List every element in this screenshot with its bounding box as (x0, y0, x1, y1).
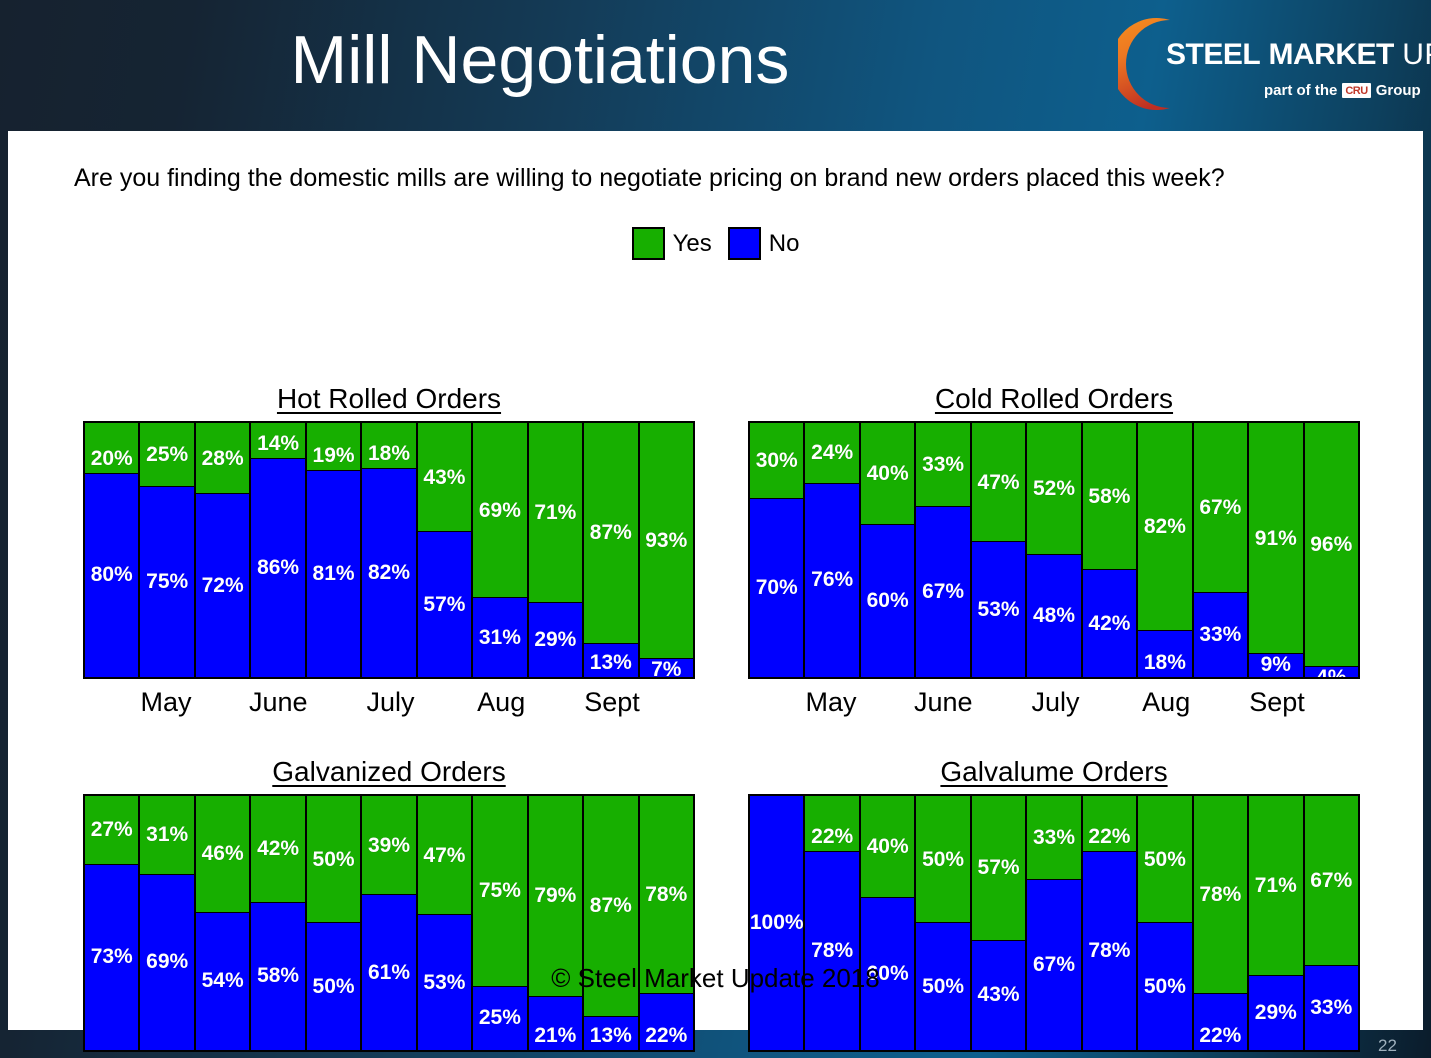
bar-segment-yes[interactable]: 82% (1138, 423, 1191, 631)
x-axis-tick-blank (308, 679, 363, 725)
stacked-bar[interactable]: 47%53% (971, 423, 1026, 677)
bar-segment-yes[interactable]: 52% (1027, 423, 1080, 555)
x-axis-tick-aug: Aug (474, 1052, 529, 1058)
x-axis-tick-blank (194, 679, 249, 725)
bar-segment-no[interactable]: 76% (805, 484, 858, 677)
bar-segment-no[interactable]: 78% (805, 852, 858, 1050)
bar-label-yes: 87% (590, 522, 632, 544)
bar-segment-no[interactable]: 53% (972, 542, 1025, 677)
bar-segment-yes[interactable]: 96% (1305, 423, 1358, 667)
x-axis-tick-blank (640, 1052, 695, 1058)
x-axis-tick-blank (640, 679, 695, 725)
bar-label-yes: 22% (811, 826, 853, 848)
stacked-bar[interactable]: 57%43% (971, 796, 1026, 1050)
stacked-bar[interactable]: 30%70% (750, 423, 804, 677)
stacked-bar[interactable]: 19%81% (306, 423, 361, 677)
plot-area-cold-rolled: 30%70%24%76%40%60%33%67%47%53%52%48%58%4… (748, 421, 1360, 679)
page-number: 22 (1378, 1036, 1397, 1056)
x-axis-hot-rolled: MayJuneJulyAugSept (83, 679, 695, 725)
stacked-bar[interactable]: 43%57% (417, 423, 472, 677)
bar-label-yes: 67% (1310, 870, 1352, 892)
x-axis-tick-may: May (803, 679, 858, 725)
stacked-bar[interactable]: 87%13% (583, 796, 638, 1050)
bar-segment-no[interactable]: 25% (473, 987, 526, 1051)
stacked-bar[interactable]: 22%78% (804, 796, 859, 1050)
bar-segment-yes[interactable]: 87% (584, 423, 637, 644)
x-axis-tick-blank (418, 1052, 473, 1058)
stacked-bar[interactable]: 33%67% (915, 423, 970, 677)
x-axis-galvalume: MayJuneJulyAugSept (748, 1052, 1360, 1058)
x-axis-tick-aug: Aug (474, 679, 529, 725)
stacked-bar[interactable]: 25%75% (139, 423, 194, 677)
bar-segment-no[interactable]: 80% (85, 474, 138, 677)
x-axis-galvanized: MayJuneJulyAugSept (83, 1052, 695, 1058)
stacked-bar[interactable]: 71%29% (528, 423, 583, 677)
logo-subtitle: part of the CRU Group (1264, 82, 1421, 99)
stacked-bar[interactable]: 67%33% (1193, 423, 1248, 677)
stacked-bar[interactable]: 58%42% (1082, 423, 1137, 677)
bar-label-yes: 43% (423, 467, 465, 489)
bar-segment-yes[interactable]: 50% (307, 796, 360, 923)
bar-label-yes: 42% (257, 838, 299, 860)
x-axis-tick-blank (308, 1052, 363, 1058)
bar-label-no: 53% (978, 599, 1020, 621)
bar-segment-yes[interactable]: 71% (529, 423, 582, 603)
x-axis-tick-may: May (138, 679, 193, 725)
bar-segment-yes[interactable]: 46% (196, 796, 249, 913)
x-axis-tick-blank (529, 679, 584, 725)
bar-label-no: 33% (1199, 624, 1241, 646)
x-axis-tick-blank (973, 1052, 1028, 1058)
bar-segment-no[interactable]: 4% (1305, 667, 1358, 677)
logo-sub-suffix: Group (1376, 82, 1421, 99)
bar-label-yes: 50% (1144, 849, 1186, 871)
stacked-bar[interactable]: 40%60% (860, 423, 915, 677)
plot-area-galvanized: 27%73%31%69%46%54%42%58%50%50%39%61%47%5… (83, 794, 695, 1052)
stacked-bar[interactable]: 28%72% (195, 423, 250, 677)
bar-segment-no[interactable]: 60% (861, 525, 914, 677)
bar-label-yes: 27% (91, 819, 133, 841)
stacked-bar[interactable]: 75%25% (472, 796, 527, 1050)
stacked-bar[interactable]: 50%50% (1137, 796, 1192, 1050)
legend-swatch-no (728, 227, 761, 260)
x-axis-tick-sept: Sept (1249, 1052, 1305, 1058)
stacked-bar[interactable]: 22%78% (1082, 796, 1137, 1050)
bar-label-no: 72% (202, 575, 244, 597)
stacked-bar[interactable]: 50%50% (915, 796, 970, 1050)
bar-label-yes: 91% (1255, 528, 1297, 550)
bar-label-yes: 24% (811, 442, 853, 464)
bar-segment-yes[interactable]: 40% (861, 796, 914, 898)
chart-galvanized: Galvanized Orders27%73%31%69%46%54%42%58… (83, 756, 695, 1058)
bar-label-no: 75% (146, 571, 188, 593)
bar-segment-no[interactable]: 21% (529, 997, 582, 1050)
stacked-bar[interactable]: 24%76% (804, 423, 859, 677)
bar-segment-yes[interactable]: 50% (916, 796, 969, 923)
steel-market-update-logo: STEEL MARKET UPDATE part of the CRU Grou… (1078, 6, 1428, 122)
bar-segment-no[interactable]: 29% (529, 603, 582, 677)
x-axis-tick-july: July (1028, 1052, 1083, 1058)
bar-segment-no[interactable]: 33% (1194, 593, 1247, 677)
bar-segment-no[interactable]: 72% (196, 494, 249, 677)
bar-segment-yes[interactable]: 75% (473, 796, 526, 987)
bar-segment-no[interactable]: 31% (473, 598, 526, 677)
bar-segment-yes[interactable]: 67% (1194, 423, 1247, 593)
bar-segment-no[interactable]: 22% (640, 994, 693, 1050)
bar-segment-no[interactable]: 18% (1138, 631, 1191, 677)
bar-label-no: 33% (1310, 997, 1352, 1019)
bar-label-yes: 50% (313, 849, 355, 871)
bar-segment-no[interactable]: 9% (1249, 654, 1302, 677)
bar-label-no: 21% (534, 1025, 576, 1047)
bar-segment-yes[interactable]: 43% (418, 423, 471, 532)
bar-label-no: 86% (257, 557, 299, 579)
bar-label-yes: 40% (867, 463, 909, 485)
bar-label-yes: 82% (1144, 516, 1186, 538)
x-axis-tick-blank (1083, 1052, 1138, 1058)
x-axis-tick-may: May (138, 1052, 193, 1058)
bar-label-yes: 20% (91, 448, 133, 470)
legend-item-yes[interactable]: Yes (632, 227, 712, 260)
bar-label-yes: 40% (867, 836, 909, 858)
stacked-bar[interactable]: 87%13% (583, 423, 638, 677)
stacked-bar[interactable]: 47%53% (417, 796, 472, 1050)
bar-label-yes: 18% (368, 443, 410, 465)
bar-label-no: 4% (1316, 667, 1346, 677)
x-axis-tick-aug: Aug (1139, 1052, 1194, 1058)
bar-segment-yes[interactable]: 22% (805, 796, 858, 852)
bar-segment-yes[interactable]: 47% (972, 423, 1025, 542)
x-axis-tick-july: July (1028, 679, 1083, 725)
stacked-bar[interactable]: 27%73% (85, 796, 139, 1050)
bar-segment-yes[interactable]: 25% (140, 423, 193, 487)
bar-segment-yes[interactable]: 47% (418, 796, 471, 915)
bar-segment-yes[interactable]: 69% (473, 423, 526, 598)
slide-body: Are you finding the domestic mills are w… (8, 131, 1423, 1030)
x-axis-tick-blank (83, 1052, 138, 1058)
cru-badge: CRU (1342, 83, 1370, 98)
chart-legend: YesNo (8, 227, 1423, 260)
bar-segment-no[interactable]: 86% (251, 459, 304, 677)
bar-segment-yes[interactable]: 42% (251, 796, 304, 903)
x-axis-tick-july: July (363, 679, 418, 725)
bar-label-yes: 50% (922, 849, 964, 871)
bar-segment-no[interactable]: 82% (362, 469, 415, 677)
bar-label-yes: 39% (368, 835, 410, 857)
bar-segment-no[interactable]: 78% (1083, 852, 1136, 1050)
x-axis-tick-aug: Aug (1139, 679, 1194, 725)
page-title: Mill Negotiations (0, 12, 1080, 108)
bar-segment-yes[interactable]: 22% (1083, 796, 1136, 852)
bar-label-no: 13% (590, 1025, 632, 1047)
x-axis-tick-july: July (363, 1052, 418, 1058)
x-axis-tick-sept: Sept (584, 679, 640, 725)
bar-segment-yes[interactable]: 27% (85, 796, 138, 865)
bar-segment-no[interactable]: 22% (1194, 994, 1247, 1050)
survey-question: Are you finding the domestic mills are w… (74, 164, 1374, 193)
bar-label-no: 7% (651, 659, 681, 677)
logo-sub-prefix: part of the (1264, 82, 1337, 99)
logo-word-steel: STEEL (1166, 38, 1260, 71)
logo-wordmark: STEEL MARKET UPDATE (1166, 38, 1431, 72)
stacked-bar[interactable]: 31%69% (139, 796, 194, 1050)
bar-label-no: 70% (756, 577, 798, 599)
bar-segment-yes[interactable]: 30% (750, 423, 803, 499)
x-axis-tick-blank (83, 679, 138, 725)
bar-label-no: 48% (1033, 605, 1075, 627)
bar-label-yes: 46% (202, 843, 244, 865)
bar-segment-no[interactable]: 13% (584, 1017, 637, 1050)
bar-label-no: 18% (1144, 652, 1186, 674)
stacked-bar[interactable]: 33%67% (1026, 796, 1081, 1050)
x-axis-tick-blank (748, 679, 803, 725)
stacked-bar[interactable]: 42%58% (250, 796, 305, 1050)
stacked-bar[interactable]: 14%86% (250, 423, 305, 677)
bar-segment-yes[interactable]: 28% (196, 423, 249, 494)
bar-segment-no[interactable]: 42% (1083, 570, 1136, 677)
bar-label-yes: 78% (1199, 884, 1241, 906)
bar-segment-no[interactable]: 81% (307, 471, 360, 677)
x-axis-tick-june: June (249, 679, 308, 725)
stacked-bar[interactable]: 78%22% (1193, 796, 1248, 1050)
bar-segment-yes[interactable]: 24% (805, 423, 858, 484)
legend-label-no: No (769, 230, 800, 258)
x-axis-tick-june: June (914, 1052, 973, 1058)
stacked-bar[interactable]: 71%29% (1248, 796, 1303, 1050)
stacked-bar[interactable]: 96%4% (1304, 423, 1358, 677)
bar-label-no: 22% (1199, 1025, 1241, 1047)
x-axis-tick-blank (194, 1052, 249, 1058)
x-axis-tick-blank (748, 1052, 803, 1058)
bar-segment-yes[interactable]: 14% (251, 423, 304, 459)
stacked-bar[interactable]: 39%61% (361, 796, 416, 1050)
bar-label-yes: 14% (257, 433, 299, 455)
bar-label-no: 76% (811, 569, 853, 591)
bar-label-yes: 47% (978, 472, 1020, 494)
bar-segment-yes[interactable]: 67% (1305, 796, 1358, 966)
bar-label-yes: 52% (1033, 478, 1075, 500)
bar-segment-yes[interactable]: 18% (362, 423, 415, 469)
bar-segment-no[interactable]: 57% (418, 532, 471, 677)
x-axis-cold-rolled: MayJuneJulyAugSept (748, 679, 1360, 725)
stacked-bar[interactable]: 82%18% (1137, 423, 1192, 677)
logo-word-update: UPDATE (1402, 38, 1431, 71)
bar-label-no: 78% (1088, 940, 1130, 962)
bar-segment-no[interactable]: 100% (750, 796, 803, 1050)
bar-label-yes: 47% (423, 845, 465, 867)
x-axis-tick-blank (859, 679, 914, 725)
x-axis-tick-blank (1305, 1052, 1360, 1058)
bar-label-no: 29% (1255, 1002, 1297, 1024)
bar-label-yes: 71% (1255, 875, 1297, 897)
bar-segment-no[interactable]: 13% (584, 644, 637, 677)
bar-segment-yes[interactable]: 57% (972, 796, 1025, 941)
bar-label-yes: 96% (1310, 534, 1352, 556)
stacked-bar[interactable]: 79%21% (528, 796, 583, 1050)
stacked-bar[interactable]: 91%9% (1248, 423, 1303, 677)
chart-title-galvalume: Galvalume Orders (748, 756, 1360, 788)
bar-label-yes: 30% (756, 450, 798, 472)
stacked-bar[interactable]: 40%60% (860, 796, 915, 1050)
bar-segment-yes[interactable]: 39% (362, 796, 415, 895)
x-axis-tick-blank (529, 1052, 584, 1058)
stacked-bar[interactable]: 18%82% (361, 423, 416, 677)
x-axis-tick-blank (418, 679, 473, 725)
bar-label-yes: 19% (313, 445, 355, 467)
bar-label-yes: 57% (978, 857, 1020, 879)
bar-label-yes: 33% (922, 454, 964, 476)
bar-segment-no[interactable]: 73% (85, 865, 138, 1050)
bar-label-yes: 22% (1088, 826, 1130, 848)
plot-area-hot-rolled: 20%80%25%75%28%72%14%86%19%81%18%82%43%5… (83, 421, 695, 679)
bar-label-no: 13% (590, 652, 632, 674)
bar-label-yes: 79% (534, 885, 576, 907)
bar-label-no: 9% (1261, 654, 1291, 676)
stacked-bar[interactable]: 20%80% (85, 423, 139, 677)
copyright-notice: © Steel Market Update 2018 (8, 963, 1423, 994)
logo-word-market: MARKET (1269, 38, 1394, 71)
bar-segment-no[interactable]: 43% (972, 941, 1025, 1050)
stacked-bar[interactable]: 52%48% (1026, 423, 1081, 677)
x-axis-tick-blank (859, 1052, 914, 1058)
slide-header: Mill Negotiations STEEL MARKET UPDATE pa… (0, 0, 1431, 131)
bar-label-yes: 93% (645, 530, 687, 552)
bar-label-no: 31% (479, 627, 521, 649)
bar-segment-yes[interactable]: 20% (85, 423, 138, 474)
x-axis-tick-blank (1305, 679, 1360, 725)
bar-segment-yes[interactable]: 33% (1027, 796, 1080, 880)
bar-label-no: 100% (750, 912, 804, 934)
chart-title-cold-rolled: Cold Rolled Orders (748, 383, 1360, 415)
bar-segment-yes[interactable]: 40% (861, 423, 914, 525)
x-axis-tick-sept: Sept (584, 1052, 640, 1058)
x-axis-tick-may: May (803, 1052, 858, 1058)
bar-segment-no[interactable]: 48% (1027, 555, 1080, 677)
bar-segment-no[interactable]: 70% (750, 499, 803, 677)
bar-label-no: 57% (423, 594, 465, 616)
bar-label-no: 78% (811, 940, 853, 962)
stacked-bar[interactable]: 46%54% (195, 796, 250, 1050)
bar-label-yes: 78% (645, 884, 687, 906)
x-axis-tick-blank (1194, 679, 1249, 725)
bar-label-yes: 67% (1199, 497, 1241, 519)
bar-segment-yes[interactable]: 19% (307, 423, 360, 471)
bar-label-yes: 33% (1033, 827, 1075, 849)
chart-galvalume: Galvalume Orders100%22%78%40%60%50%50%57… (748, 756, 1360, 1058)
stacked-bar[interactable]: 69%31% (472, 423, 527, 677)
bar-label-yes: 71% (534, 502, 576, 524)
bar-segment-yes[interactable]: 71% (1249, 796, 1302, 976)
bar-segment-yes[interactable]: 33% (916, 423, 969, 507)
stacked-bar[interactable]: 67%33% (1304, 796, 1358, 1050)
bar-segment-yes[interactable]: 93% (640, 423, 693, 659)
bar-label-yes: 69% (479, 500, 521, 522)
x-axis-tick-sept: Sept (1249, 679, 1305, 725)
legend-label-yes: Yes (673, 230, 712, 258)
bar-label-no: 22% (645, 1025, 687, 1047)
x-axis-tick-blank (1194, 1052, 1249, 1058)
bar-label-no: 42% (1088, 613, 1130, 635)
bar-label-yes: 58% (1088, 486, 1130, 508)
plot-area-galvalume: 100%22%78%40%60%50%50%57%43%33%67%22%78%… (748, 794, 1360, 1052)
x-axis-tick-june: June (249, 1052, 308, 1058)
bar-segment-yes[interactable]: 91% (1249, 423, 1302, 654)
bar-segment-yes[interactable]: 58% (1083, 423, 1136, 570)
bar-label-yes: 75% (479, 880, 521, 902)
stacked-bar[interactable]: 78%22% (639, 796, 693, 1050)
bar-label-no: 81% (313, 563, 355, 585)
chart-hot-rolled: Hot Rolled Orders20%80%25%75%28%72%14%86… (83, 383, 695, 725)
chart-title-hot-rolled: Hot Rolled Orders (83, 383, 695, 415)
bar-label-yes: 25% (146, 444, 188, 466)
x-axis-tick-blank (1083, 679, 1138, 725)
bar-segment-no[interactable]: 75% (140, 487, 193, 678)
bar-segment-yes[interactable]: 50% (1138, 796, 1191, 923)
bar-segment-no[interactable]: 7% (640, 659, 693, 677)
stacked-bar[interactable]: 93%7% (639, 423, 693, 677)
chart-title-galvanized: Galvanized Orders (83, 756, 695, 788)
bar-label-yes: 31% (146, 824, 188, 846)
bar-label-yes: 87% (590, 895, 632, 917)
bar-label-no: 29% (534, 629, 576, 651)
x-axis-tick-blank (973, 679, 1028, 725)
stacked-bar[interactable]: 100% (750, 796, 804, 1050)
bar-label-no: 82% (368, 562, 410, 584)
bar-label-no: 25% (479, 1007, 521, 1029)
slide-root: Mill Negotiations STEEL MARKET UPDATE pa… (0, 0, 1431, 1058)
legend-item-no[interactable]: No (728, 227, 800, 260)
bar-segment-yes[interactable]: 31% (140, 796, 193, 875)
bar-label-no: 60% (867, 590, 909, 612)
bar-label-yes: 28% (202, 448, 244, 470)
x-axis-tick-june: June (914, 679, 973, 725)
legend-swatch-yes (632, 227, 665, 260)
bar-label-no: 67% (922, 581, 964, 603)
bar-segment-no[interactable]: 67% (916, 507, 969, 677)
stacked-bar[interactable]: 50%50% (306, 796, 361, 1050)
bar-label-no: 80% (91, 564, 133, 586)
chart-cold-rolled: Cold Rolled Orders30%70%24%76%40%60%33%6… (748, 383, 1360, 725)
